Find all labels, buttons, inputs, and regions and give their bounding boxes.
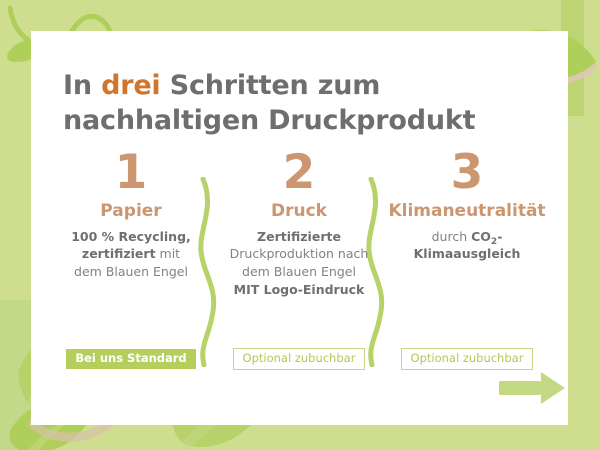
step-badge-wrap-3: Optional zubuchbar [379, 347, 555, 370]
step-badge-wrap-1: Bei uns Standard [43, 347, 219, 369]
step-text-normal: mit [156, 246, 181, 261]
infographic-canvas: In drei Schritten zum nachhaltigen Druck… [0, 0, 600, 450]
subscript-two: 2 [491, 237, 497, 247]
step-heading: Papier [43, 202, 219, 221]
step-text-bold: 100 % Recycling, [71, 229, 191, 244]
step-heading: Druck [211, 202, 387, 221]
step-text-bold: zertifiziert [82, 246, 156, 261]
arrow-right-icon [499, 371, 567, 409]
step-item-3: 3 Klimaneutralität durch CO2- Klimaausgl… [379, 149, 555, 263]
step-item-2: 2 Druck Zertifizierte Druckproduktion na… [211, 149, 387, 299]
step-text-normal: dem Blauen Engel [242, 264, 356, 279]
step-description: durch CO2- Klimaausgleich [379, 228, 555, 264]
status-badge: Bei uns Standard [66, 349, 195, 369]
status-badge: Optional zubuchbar [233, 348, 366, 370]
title-line-1-post: Schritten zum [161, 70, 381, 101]
step-text-bold: Klimaausgleich [414, 246, 521, 261]
steps-container: 1 Papier 100 % Recycling, zertifiziert m… [31, 149, 568, 389]
title-line-2: nachhaltigen Druckprodukt [63, 105, 475, 136]
title-line-1-pre: In [63, 70, 101, 101]
step-heading: Klimaneutralität [379, 202, 555, 221]
content-card: In drei Schritten zum nachhaltigen Druck… [31, 31, 568, 425]
step-text-normal: dem Blauen Engel [74, 264, 188, 279]
step-text-co2: CO2- [471, 229, 502, 244]
step-description: 100 % Recycling, zertifiziert mit dem Bl… [43, 228, 219, 281]
step-text-bold: Zertifizierte [257, 229, 341, 244]
step-text-normal: durch [432, 229, 472, 244]
step-item-1: 1 Papier 100 % Recycling, zertifiziert m… [43, 149, 219, 281]
step-number: 2 [211, 149, 387, 196]
status-badge: Optional zubuchbar [401, 348, 534, 370]
step-text-bold: MIT Logo-Eindruck [234, 282, 365, 297]
step-number: 3 [379, 149, 555, 196]
step-description: Zertifizierte Druckproduktion nach dem B… [211, 228, 387, 299]
step-text-normal: Druckproduktion nach [230, 246, 369, 261]
title-highlight-word: drei [101, 70, 160, 101]
step-number: 1 [43, 149, 219, 196]
page-title: In drei Schritten zum nachhaltigen Druck… [63, 69, 533, 138]
step-badge-wrap-2: Optional zubuchbar [211, 347, 387, 370]
